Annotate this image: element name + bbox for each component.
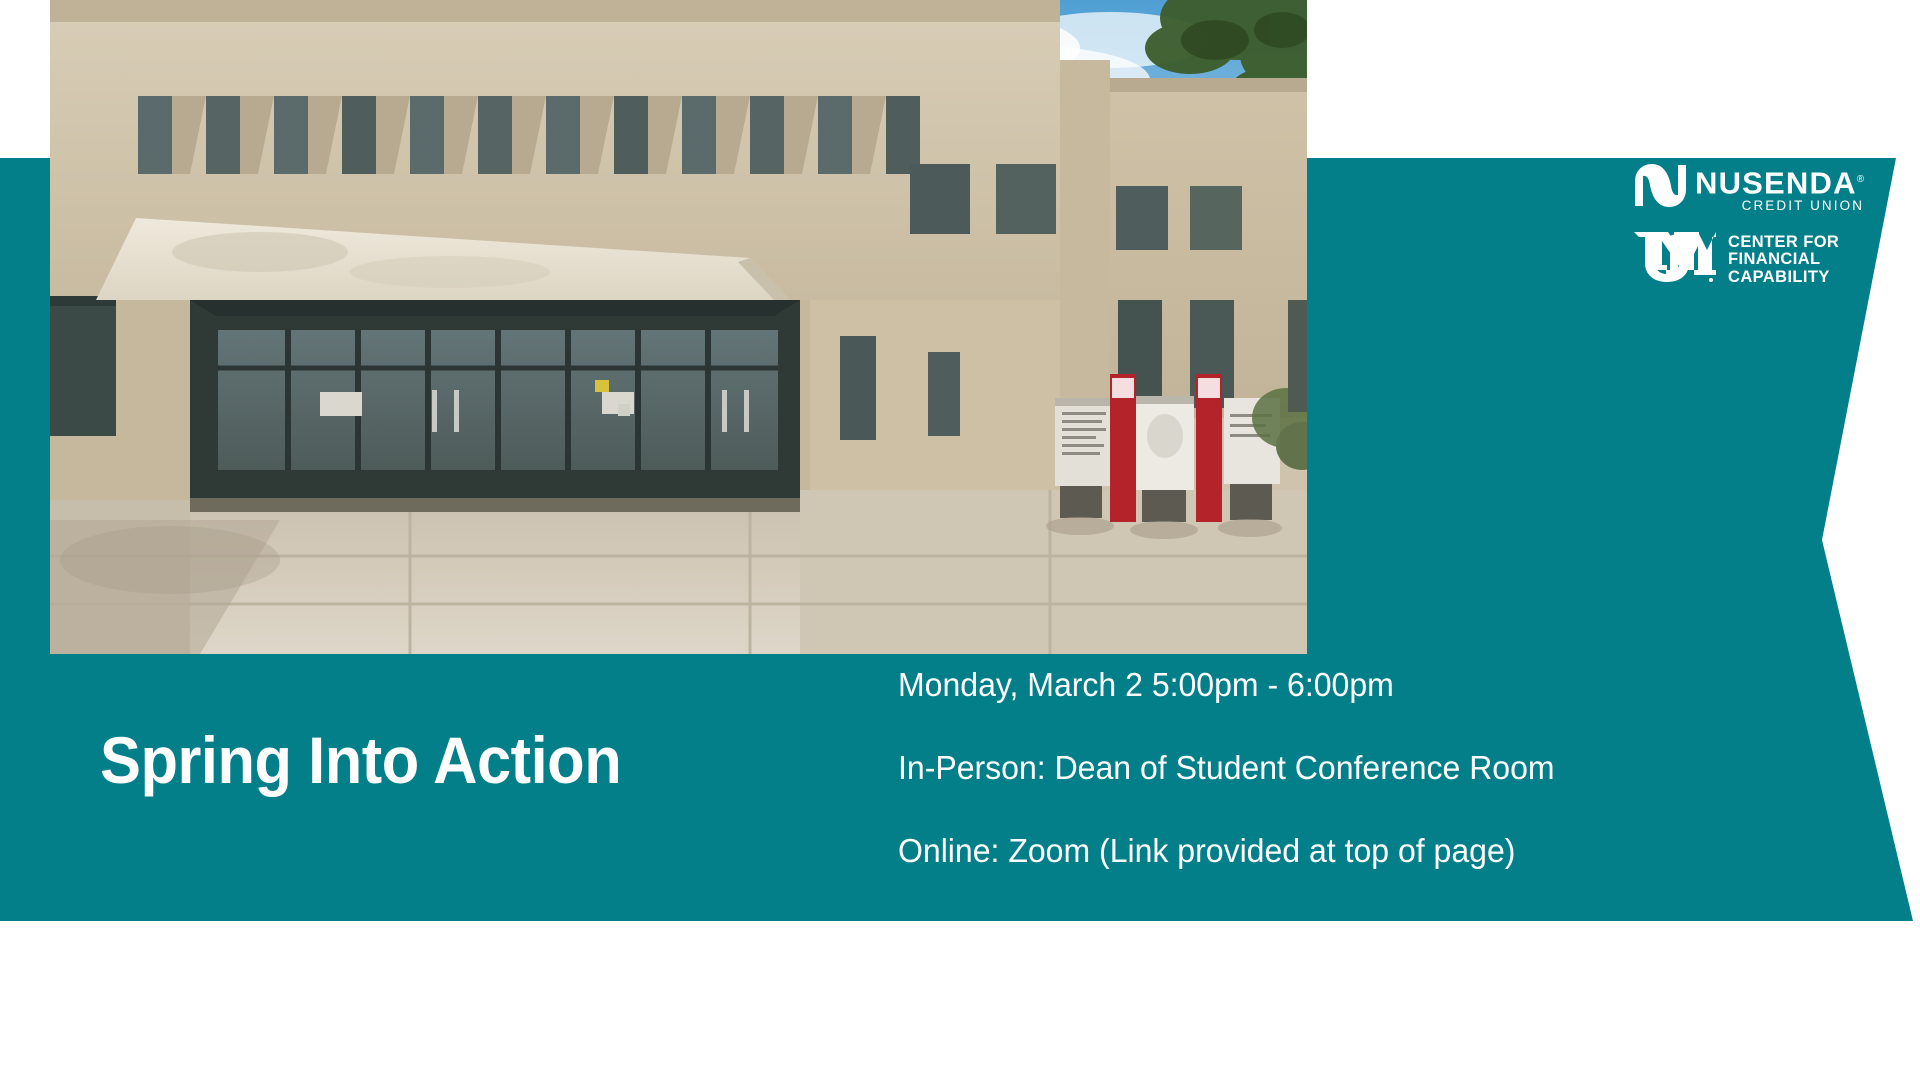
unm-interlocking-logo — [1632, 228, 1716, 291]
unm-center-logo: CENTER FOR FINANCIAL CAPABILITY — [1632, 228, 1894, 291]
unm-building-entrance-photo — [50, 0, 1307, 654]
event-datetime: Monday, March 2 5:00pm - 6:00pm — [898, 668, 1810, 701]
cfc-line-1: CENTER FOR — [1728, 234, 1839, 252]
nusenda-wave-mark — [1632, 162, 1688, 213]
event-banner: NUSENDA® CREDIT UNION — [0, 0, 1920, 1080]
center-for-financial-capability-text: CENTER FOR FINANCIAL CAPABILITY — [1728, 234, 1839, 287]
registered-trademark-icon: ® — [1857, 174, 1864, 185]
nusenda-wordmark: NUSENDA® CREDIT UNION — [1695, 162, 1864, 214]
cfc-line-2: FINANCIAL — [1728, 251, 1839, 269]
logo-lockup: NUSENDA® CREDIT UNION — [1632, 162, 1894, 291]
event-details: Monday, March 2 5:00pm - 6:00pm In-Perso… — [898, 668, 1838, 867]
nusenda-tagline: CREDIT UNION — [1742, 198, 1864, 214]
nusenda-logo: NUSENDA® CREDIT UNION — [1632, 162, 1894, 214]
cfc-line-3: CAPABILITY — [1728, 269, 1839, 287]
page-title: Spring Into Action — [100, 722, 621, 798]
event-location-in-person: In-Person: Dean of Student Conference Ro… — [898, 751, 1810, 784]
event-location-online: Online: Zoom (Link provided at top of pa… — [898, 834, 1810, 867]
nusenda-name: NUSENDA® — [1695, 165, 1864, 198]
